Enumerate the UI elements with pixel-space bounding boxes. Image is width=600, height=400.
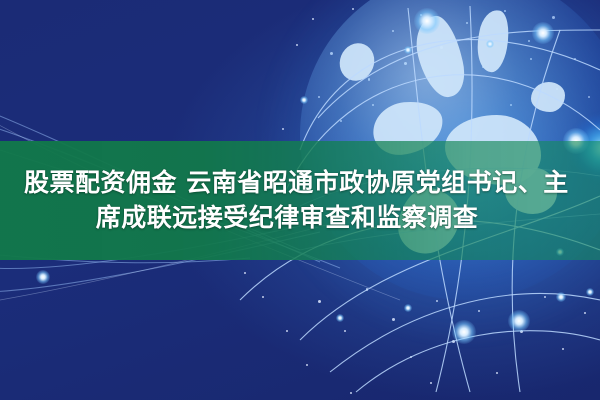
news-banner: 股票配资佣金 云南省昭通市政协原党组书记、主 席成联远接受纪律审查和监察调查: [0, 0, 600, 400]
headline-block: 股票配资佣金 云南省昭通市政协原党组书记、主 席成联远接受纪律审查和监察调查: [0, 141, 600, 260]
headline-line-1: 股票配资佣金 云南省昭通市政协原党组书记、主: [10, 168, 590, 199]
headline-line-2: 席成联远接受纪律审查和监察调查: [10, 203, 590, 234]
